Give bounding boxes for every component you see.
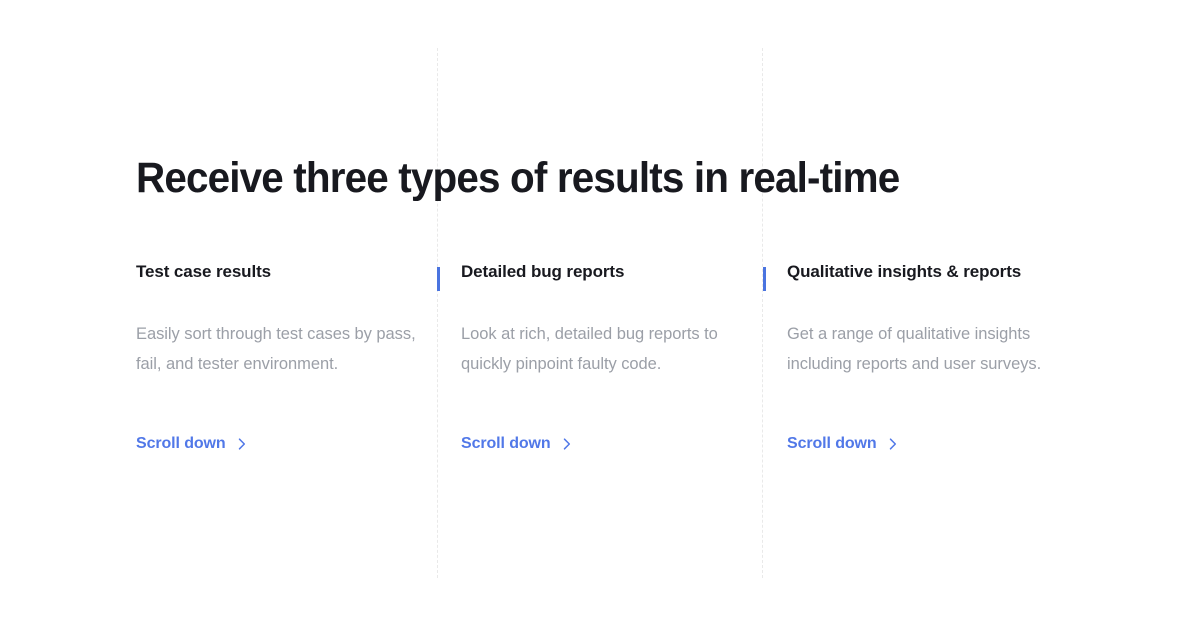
feature-column-title: Qualitative insights & reports <box>787 260 1087 284</box>
feature-column-body: Get a range of qualitative insights incl… <box>787 284 1072 379</box>
feature-column-title: Test case results <box>136 260 436 284</box>
scroll-down-link[interactable]: Scroll down <box>787 435 900 453</box>
scroll-down-label: Scroll down <box>136 435 226 453</box>
accent-bar <box>437 267 440 291</box>
accent-bar <box>763 267 766 291</box>
chevron-right-icon <box>560 437 574 451</box>
scroll-down-label: Scroll down <box>787 435 877 453</box>
feature-column-qualitative-insights: Qualitative insights & reports Get a ran… <box>787 260 1087 453</box>
scroll-down-link[interactable]: Scroll down <box>461 435 574 453</box>
chevron-right-icon <box>235 437 249 451</box>
page-root: Receive three types of results in real-t… <box>0 0 1200 631</box>
scroll-down-label: Scroll down <box>461 435 551 453</box>
feature-column-title: Detailed bug reports <box>461 260 761 284</box>
feature-column-detailed-bug-reports: Detailed bug reports Look at rich, detai… <box>461 260 761 453</box>
feature-column-body: Look at rich, detailed bug reports to qu… <box>461 284 746 379</box>
scroll-down-link[interactable]: Scroll down <box>136 435 249 453</box>
feature-columns: Test case results Easily sort through te… <box>0 0 1200 631</box>
chevron-right-icon <box>886 437 900 451</box>
feature-column-test-case-results: Test case results Easily sort through te… <box>136 260 436 453</box>
feature-column-body: Easily sort through test cases by pass, … <box>136 284 421 379</box>
